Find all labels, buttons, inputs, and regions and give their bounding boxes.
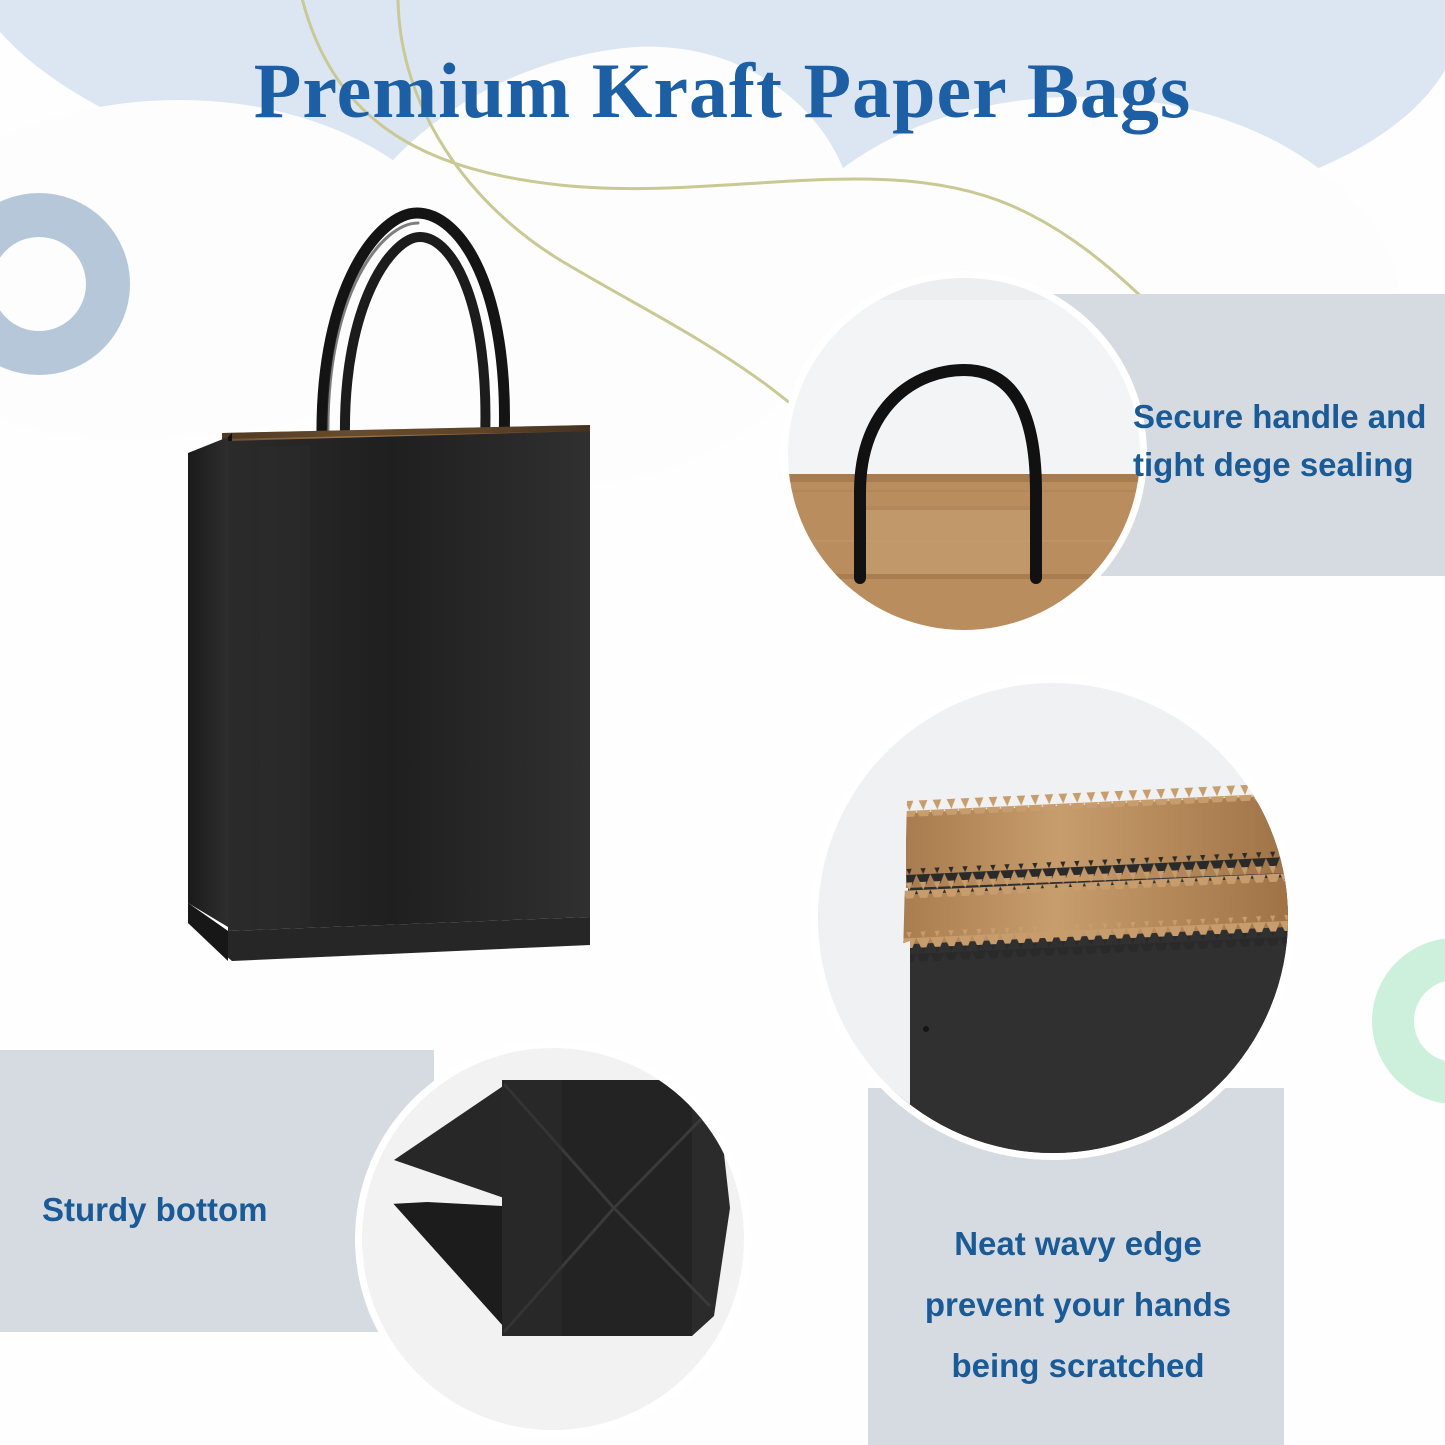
page-title: Premium Kraft Paper Bags	[0, 52, 1445, 130]
caption-secure-handle-line2: tight dege sealing	[1133, 441, 1433, 489]
infographic-canvas: Premium Kraft Paper Bags	[0, 0, 1445, 1445]
caption-secure-handle-line1: Secure handle and	[1133, 393, 1433, 441]
decorative-ring-green	[1372, 938, 1445, 1104]
feature-image-sturdy-bottom	[362, 1048, 744, 1430]
decorative-ring-blue	[0, 193, 130, 375]
caption-wavy-edge: Neat wavy edge prevent your hands being …	[888, 1213, 1268, 1396]
caption-wavy-edge-line3: being scratched	[888, 1335, 1268, 1396]
caption-wavy-edge-line1: Neat wavy edge	[888, 1213, 1268, 1274]
caption-wavy-edge-line2: prevent your hands	[888, 1274, 1268, 1335]
caption-secure-handle: Secure handle and tight dege sealing	[1133, 393, 1433, 489]
feature-image-secure-handle	[788, 278, 1140, 630]
caption-sturdy-bottom: Sturdy bottom	[42, 1186, 372, 1234]
caption-sturdy-bottom-line1: Sturdy bottom	[42, 1186, 372, 1234]
feature-image-wavy-edge	[818, 683, 1288, 1153]
hero-product-image	[170, 175, 640, 1005]
